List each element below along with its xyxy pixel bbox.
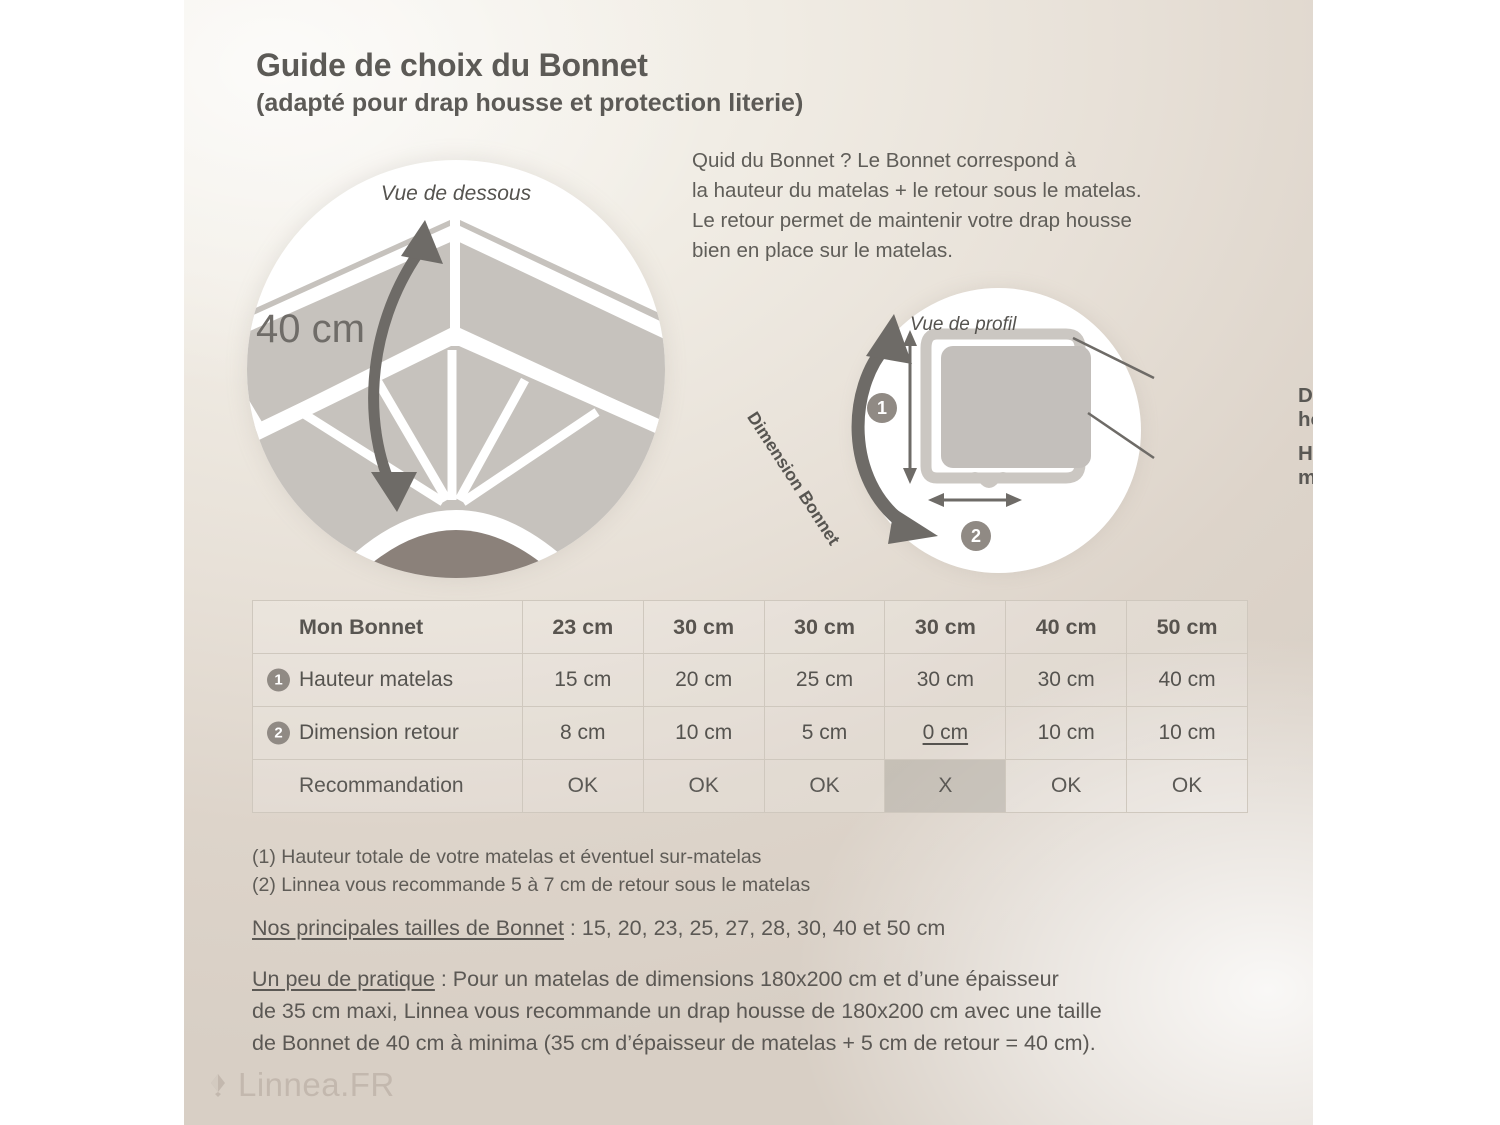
table-col-header-4: 30 cm	[885, 601, 1006, 654]
table-row-label-0: 1 Hauteur matelas	[253, 654, 523, 707]
table-col-header-0: Mon Bonnet	[253, 601, 523, 654]
brand-logo[interactable]: Linnea.FR	[208, 1066, 395, 1104]
table-col-header-2: 30 cm	[643, 601, 764, 654]
table-col-header-3: 30 cm	[764, 601, 885, 654]
row-label-text: Hauteur matelas	[299, 668, 453, 691]
table-row-label-2: Recommandation	[253, 760, 523, 813]
bonnet-measurement-label: 40 cm	[256, 307, 365, 352]
callout-drap-housse: Drap housse	[1298, 384, 1313, 432]
table-cell-r0c1: 15 cm	[522, 654, 643, 707]
infographic-root: Guide de choix du Bonnet (adapté pour dr…	[0, 0, 1500, 1125]
title-block: Guide de choix du Bonnet (adapté pour dr…	[256, 46, 803, 119]
table-header-row: Mon Bonnet 23 cm 30 cm 30 cm 30 cm 40 cm…	[253, 601, 1248, 654]
table-cell-r1c3: 5 cm	[764, 707, 885, 760]
table-cell-r2c4: X	[885, 760, 1006, 813]
table-cell-r0c3: 25 cm	[764, 654, 885, 707]
footnotes-block: (1) Hauteur totale de votre matelas et é…	[252, 843, 810, 900]
table-row: 1 Hauteur matelas 15 cm 20 cm 25 cm 30 c…	[253, 654, 1248, 707]
callout-hauteur-matelas: Hauteur matelas	[1298, 442, 1313, 490]
callout-hauteur-matelas-line1: Hauteur	[1298, 442, 1313, 466]
bonnet-size-table: Mon Bonnet 23 cm 30 cm 30 cm 30 cm 40 cm…	[252, 600, 1248, 813]
table-col-header-5: 40 cm	[1006, 601, 1127, 654]
table-cell-r2c6: OK	[1127, 760, 1248, 813]
table-cell-r0c4: 30 cm	[885, 654, 1006, 707]
table-row-label-1: 2 Dimension retour	[253, 707, 523, 760]
table-cell-r1c5: 10 cm	[1006, 707, 1127, 760]
footnote-2: (2) Linnea vous recommande 5 à 7 cm de r…	[252, 871, 810, 899]
bottom-view-caption: Vue de dessous	[247, 182, 665, 206]
bottom-view-diagram: Vue de dessous 40 cm	[247, 160, 665, 578]
callout-hauteur-matelas-line2: matelas	[1298, 466, 1313, 490]
table-cell-r1c1: 8 cm	[522, 707, 643, 760]
content-panel: Guide de choix du Bonnet (adapté pour dr…	[184, 0, 1313, 1125]
available-sizes-label: Nos principales tailles de Bonnet	[252, 916, 564, 940]
available-sizes-value: : 15, 20, 23, 25, 27, 28, 30, 40 et 50 c…	[564, 916, 945, 940]
row-badge-2: 2	[267, 722, 290, 745]
table-cell-r0c6: 40 cm	[1127, 654, 1248, 707]
intro-line-1: Quid du Bonnet ? Le Bonnet correspond à	[692, 146, 1272, 176]
profile-view-caption: Vue de profil	[910, 314, 1016, 336]
profile-badge-2: 2	[971, 526, 981, 546]
intro-line-4: bien en place sur le matelas.	[692, 236, 1272, 266]
table-cell-r0c2: 20 cm	[643, 654, 764, 707]
page-title: Guide de choix du Bonnet	[256, 46, 803, 85]
profile-view-diagram: 1 2 Vue de profil Dimension Bonnet	[856, 288, 1141, 573]
table-col-header-6: 50 cm	[1127, 601, 1248, 654]
footnote-1: (1) Hauteur totale de votre matelas et é…	[252, 843, 810, 871]
intro-line-3: Le retour permet de maintenir votre drap…	[692, 206, 1272, 236]
row-badge-1: 1	[267, 669, 290, 692]
profile-badge-1: 1	[877, 398, 887, 418]
brand-logo-text: Linnea.FR	[238, 1066, 395, 1104]
table-cell-r0c5: 30 cm	[1006, 654, 1127, 707]
practice-line-1: Un peu de pratique : Pour un matelas de …	[252, 964, 1262, 996]
table-cell-r2c5: OK	[1006, 760, 1127, 813]
table-col-header-1: 23 cm	[522, 601, 643, 654]
intro-paragraph: Quid du Bonnet ? Le Bonnet correspond à …	[692, 146, 1272, 267]
row-label-text: Dimension retour	[299, 721, 459, 744]
practice-example-block: Un peu de pratique : Pour un matelas de …	[252, 964, 1262, 1059]
table-cell-r2c1: OK	[522, 760, 643, 813]
bonnet-height-arrow	[247, 160, 665, 578]
table-cell-r1c4: 0 cm	[885, 707, 1006, 760]
table-row: Recommandation OK OK OK X OK OK	[253, 760, 1248, 813]
diamond-leaf-icon	[208, 1072, 228, 1098]
table-cell-r1c6: 10 cm	[1127, 707, 1248, 760]
practice-line-2: de 35 cm maxi, Linnea vous recommande un…	[252, 996, 1262, 1028]
table-cell-r1c2: 10 cm	[643, 707, 764, 760]
table-row: 2 Dimension retour 8 cm 10 cm 5 cm 0 cm …	[253, 707, 1248, 760]
practice-line-1-text: : Pour un matelas de dimensions 180x200 …	[435, 967, 1059, 991]
practice-label: Un peu de pratique	[252, 967, 435, 991]
practice-line-3: de Bonnet de 40 cm à minima (35 cm d’épa…	[252, 1028, 1262, 1060]
page-subtitle: (adapté pour drap housse et protection l…	[256, 88, 803, 119]
table-cell-r2c3: OK	[764, 760, 885, 813]
available-sizes-line: Nos principales tailles de Bonnet : 15, …	[252, 916, 945, 941]
intro-line-2: la hauteur du matelas + le retour sous l…	[692, 176, 1272, 206]
row-label-text: Recommandation	[299, 774, 464, 797]
table-cell-r2c2: OK	[643, 760, 764, 813]
